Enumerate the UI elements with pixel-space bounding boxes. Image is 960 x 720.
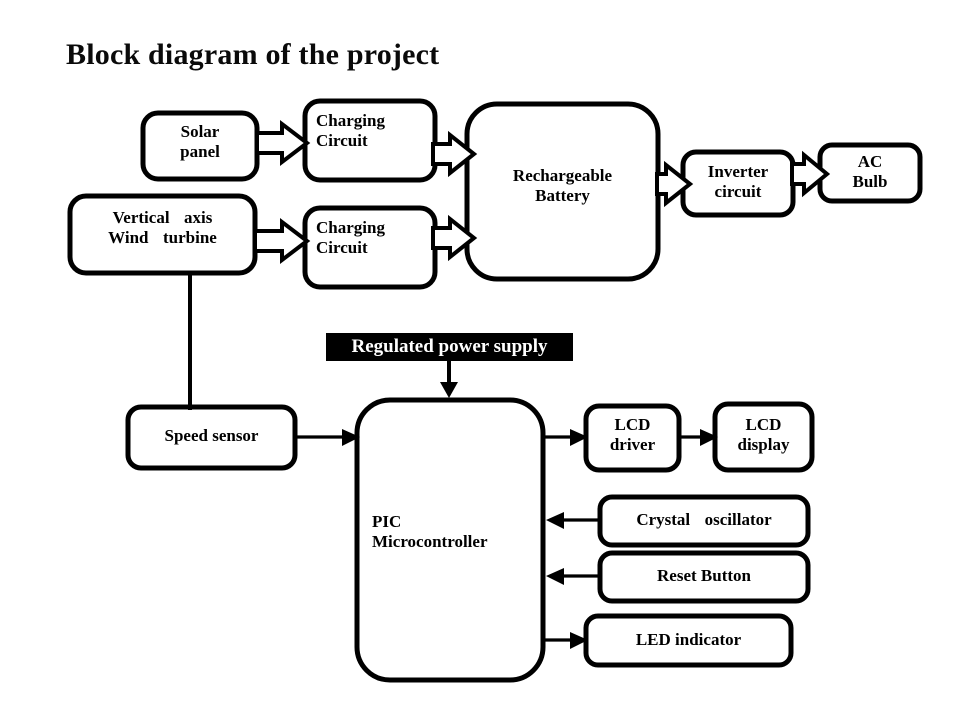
connector-power-to-pic [440,361,458,398]
connector-crystal-to-pic [546,512,600,529]
diagram-svg [0,0,960,720]
connector-pic-to-led [543,632,588,649]
connector-turbine-to-charging2 [255,222,307,260]
block-shape-charging-circuit-2[interactable] [305,208,435,287]
connector-lcd-driver-to-display [679,429,718,446]
block-shape-inverter-circuit[interactable] [683,152,793,215]
block-shape-ac-bulb[interactable] [820,145,920,201]
block-shape-reset-button[interactable] [600,553,808,601]
block-shape-solar-panel[interactable] [143,113,257,179]
block-shape-crystal-oscillator[interactable] [600,497,808,545]
block-shape-wind-turbine[interactable] [70,196,255,273]
connector-pic-to-lcd-driver [543,429,588,446]
block-shape-charging-circuit-1[interactable] [305,101,435,180]
block-shape-speed-sensor[interactable] [128,407,295,468]
label-regulated-power-supply: Regulated power supply [326,336,573,358]
block-shape-pic-microcontroller[interactable] [357,400,543,680]
block-diagram-canvas: Block diagram of the project [0,0,960,720]
block-shape-lcd-driver[interactable] [586,406,679,470]
block-shape-led-indicator[interactable] [586,616,791,665]
block-shape-rechargeable-battery[interactable] [467,104,658,279]
connector-solar-to-charging1 [257,124,307,162]
connector-speed-sensor-to-pic [295,429,360,446]
block-shape-lcd-display[interactable] [715,404,812,470]
connector-reset-to-pic [546,568,600,585]
